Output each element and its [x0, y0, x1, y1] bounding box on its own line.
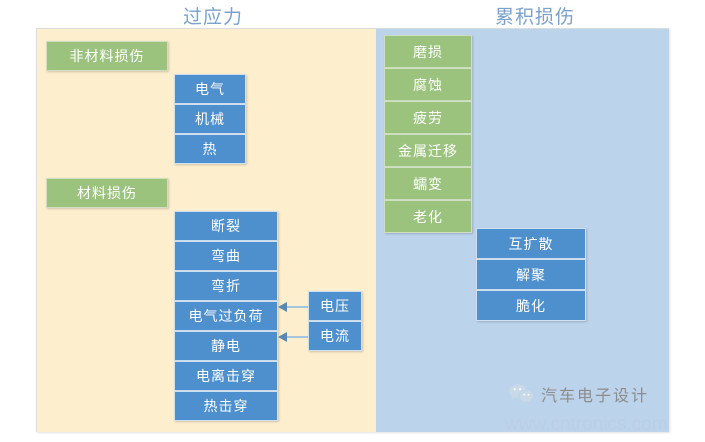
watermark-url: www.cntronics.com: [505, 414, 668, 436]
item-interdiffusion[interactable]: 互扩散: [476, 228, 586, 259]
item-fatigue[interactable]: 疲劳: [384, 101, 472, 134]
wechat-icon: [508, 383, 534, 405]
item-metal-migration[interactable]: 金属迁移: [384, 134, 472, 167]
item-fracture[interactable]: 断裂: [174, 211, 278, 241]
item-thermal[interactable]: 热: [174, 134, 246, 164]
diagram-canvas: 过应力 累积损伤 非材料损伤 电气 机械 热 材料损伤 断裂 弯曲 弯折 电气过…: [0, 0, 705, 442]
driver-voltage[interactable]: 电压: [308, 291, 362, 321]
item-wear[interactable]: 磨损: [384, 35, 472, 68]
arrow-voltage-to-overload: [286, 306, 310, 308]
item-electrical-overload[interactable]: 电气过负荷: [174, 301, 278, 331]
watermark: 汽车电子设计: [508, 382, 649, 406]
item-electrical[interactable]: 电气: [174, 74, 246, 104]
group-material-damage[interactable]: 材料损伤: [46, 178, 168, 208]
item-buckling[interactable]: 弯折: [174, 271, 278, 301]
item-thermal-breakdown[interactable]: 热击穿: [174, 391, 278, 421]
column-title-cumulative: 累积损伤: [440, 2, 630, 29]
item-ionization-breakdown[interactable]: 电离击穿: [174, 361, 278, 391]
item-mechanical[interactable]: 机械: [174, 104, 246, 134]
item-corrosion[interactable]: 腐蚀: [384, 68, 472, 101]
item-creep[interactable]: 蠕变: [384, 167, 472, 200]
item-aging[interactable]: 老化: [384, 200, 472, 233]
column-title-overstress: 过应力: [118, 2, 308, 29]
watermark-account-name: 汽车电子设计: [541, 382, 649, 406]
driver-current[interactable]: 电流: [308, 321, 362, 351]
group-nonmaterial-damage[interactable]: 非材料损伤: [46, 41, 168, 71]
item-embrittlement[interactable]: 脆化: [476, 290, 586, 321]
item-depolymerization[interactable]: 解聚: [476, 259, 586, 290]
item-bending[interactable]: 弯曲: [174, 241, 278, 271]
arrow-current-to-overload: [286, 336, 310, 338]
item-electrostatic[interactable]: 静电: [174, 331, 278, 361]
